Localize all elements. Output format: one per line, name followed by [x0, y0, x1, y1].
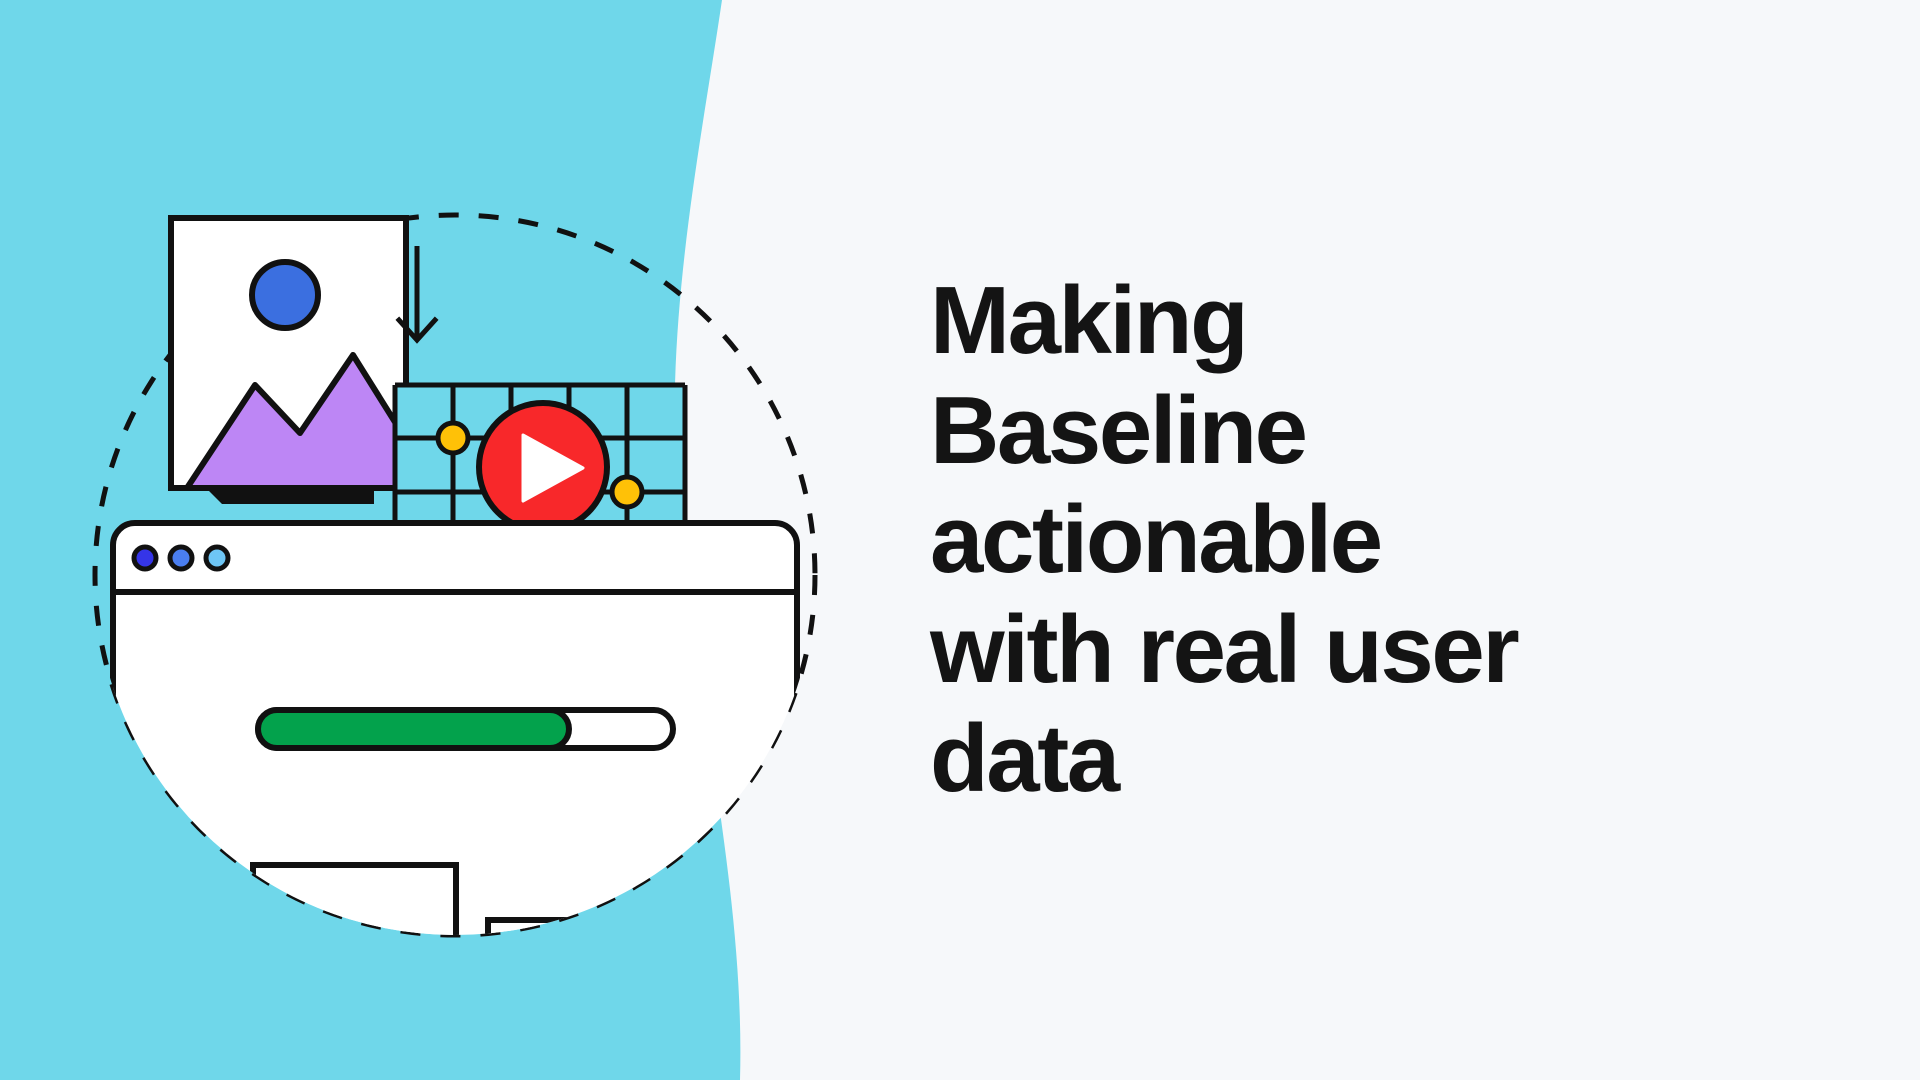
web-performance-illustration — [95, 180, 855, 970]
headline-block: Making Baseline actionable with real use… — [930, 0, 1810, 1080]
content-block-left — [253, 865, 456, 970]
window-dot-blue-icon[interactable] — [170, 547, 192, 569]
progress-bar-fill — [258, 710, 569, 748]
page-title: Making Baseline actionable with real use… — [930, 266, 1810, 813]
headline-line-4: with real user — [930, 596, 1517, 703]
layout-shift-dot-icon — [438, 423, 468, 453]
loading-progress-bar — [258, 710, 673, 748]
browser-window — [113, 523, 797, 990]
window-dot-light-blue-icon[interactable] — [206, 547, 228, 569]
image-placeholder-card — [171, 218, 425, 504]
headline-line-2: Baseline — [930, 377, 1306, 484]
window-dot-dark-blue-icon[interactable] — [134, 547, 156, 569]
play-button[interactable] — [479, 403, 607, 531]
hero-banner: Making Baseline actionable with real use… — [0, 0, 1920, 1080]
headline-line-5: data — [930, 705, 1118, 812]
content-block-right — [488, 920, 628, 990]
layout-shift-dot-icon — [612, 477, 642, 507]
headline-line-3: actionable — [930, 486, 1381, 593]
headline-line-1: Making — [930, 267, 1246, 374]
